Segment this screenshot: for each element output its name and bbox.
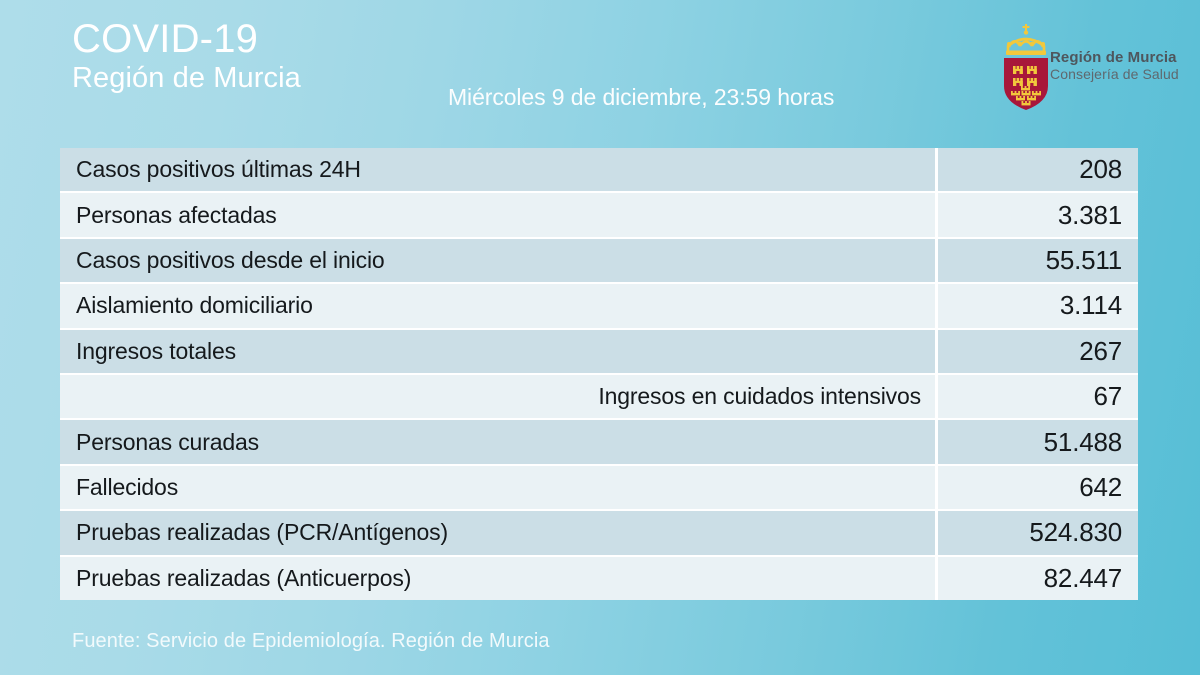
stat-value: 267: [938, 336, 1138, 367]
region-de-murcia-logo: Región de Murcia Consejería de Salud: [995, 22, 1195, 122]
stat-value: 55.511: [938, 245, 1138, 276]
stat-label: Aislamiento domiciliario: [60, 292, 935, 319]
stat-label: Casos positivos desde el inicio: [60, 247, 935, 274]
stat-label: Casos positivos últimas 24H: [60, 156, 935, 183]
table-row: Casos positivos desde el inicio55.511: [60, 239, 1138, 284]
report-date: Miércoles 9 de diciembre, 23:59 horas: [448, 84, 834, 111]
stat-label: Pruebas realizadas (PCR/Antígenos): [60, 519, 935, 546]
covid-stats-infographic: COVID-19 Región de Murcia Miércoles 9 de…: [0, 0, 1200, 675]
stat-label: Pruebas realizadas (Anticuerpos): [60, 565, 935, 592]
coat-of-arms-icon: [1000, 22, 1052, 112]
stat-value: 642: [938, 472, 1138, 503]
table-row: Personas afectadas3.381: [60, 193, 1138, 238]
logo-organization: Región de Murcia: [1050, 50, 1179, 67]
table-row: Ingresos en cuidados intensivos67: [60, 375, 1138, 420]
page-subtitle: Región de Murcia: [72, 62, 301, 95]
stat-label: Personas afectadas: [60, 202, 935, 229]
header: COVID-19 Región de Murcia Miércoles 9 de…: [0, 0, 1200, 140]
stat-value: 3.114: [938, 290, 1138, 321]
stat-value: 524.830: [938, 517, 1138, 548]
stat-label: Fallecidos: [60, 474, 935, 501]
stat-value: 208: [938, 154, 1138, 185]
title-block: COVID-19 Región de Murcia: [72, 18, 301, 95]
table-row: Casos positivos últimas 24H208: [60, 148, 1138, 193]
logo-department: Consejería de Salud: [1050, 67, 1179, 83]
stat-value: 67: [938, 381, 1138, 412]
stat-value: 51.488: [938, 427, 1138, 458]
stat-value: 3.381: [938, 200, 1138, 231]
stat-label: Ingresos en cuidados intensivos: [60, 383, 935, 410]
table-row: Fallecidos642: [60, 466, 1138, 511]
table-row: Ingresos totales267: [60, 330, 1138, 375]
table-row: Personas curadas51.488: [60, 420, 1138, 465]
stat-value: 82.447: [938, 563, 1138, 594]
table-row: Pruebas realizadas (Anticuerpos)82.447: [60, 557, 1138, 600]
source-note: Fuente: Servicio de Epidemiología. Regió…: [72, 630, 550, 653]
page-title: COVID-19: [72, 18, 301, 60]
stat-label: Personas curadas: [60, 429, 935, 456]
table-row: Aislamiento domiciliario3.114: [60, 284, 1138, 329]
stat-label: Ingresos totales: [60, 338, 935, 365]
stats-table: Casos positivos últimas 24H208Personas a…: [60, 148, 1138, 600]
logo-text: Región de Murcia Consejería de Salud: [1050, 50, 1179, 82]
table-row: Pruebas realizadas (PCR/Antígenos)524.83…: [60, 511, 1138, 556]
